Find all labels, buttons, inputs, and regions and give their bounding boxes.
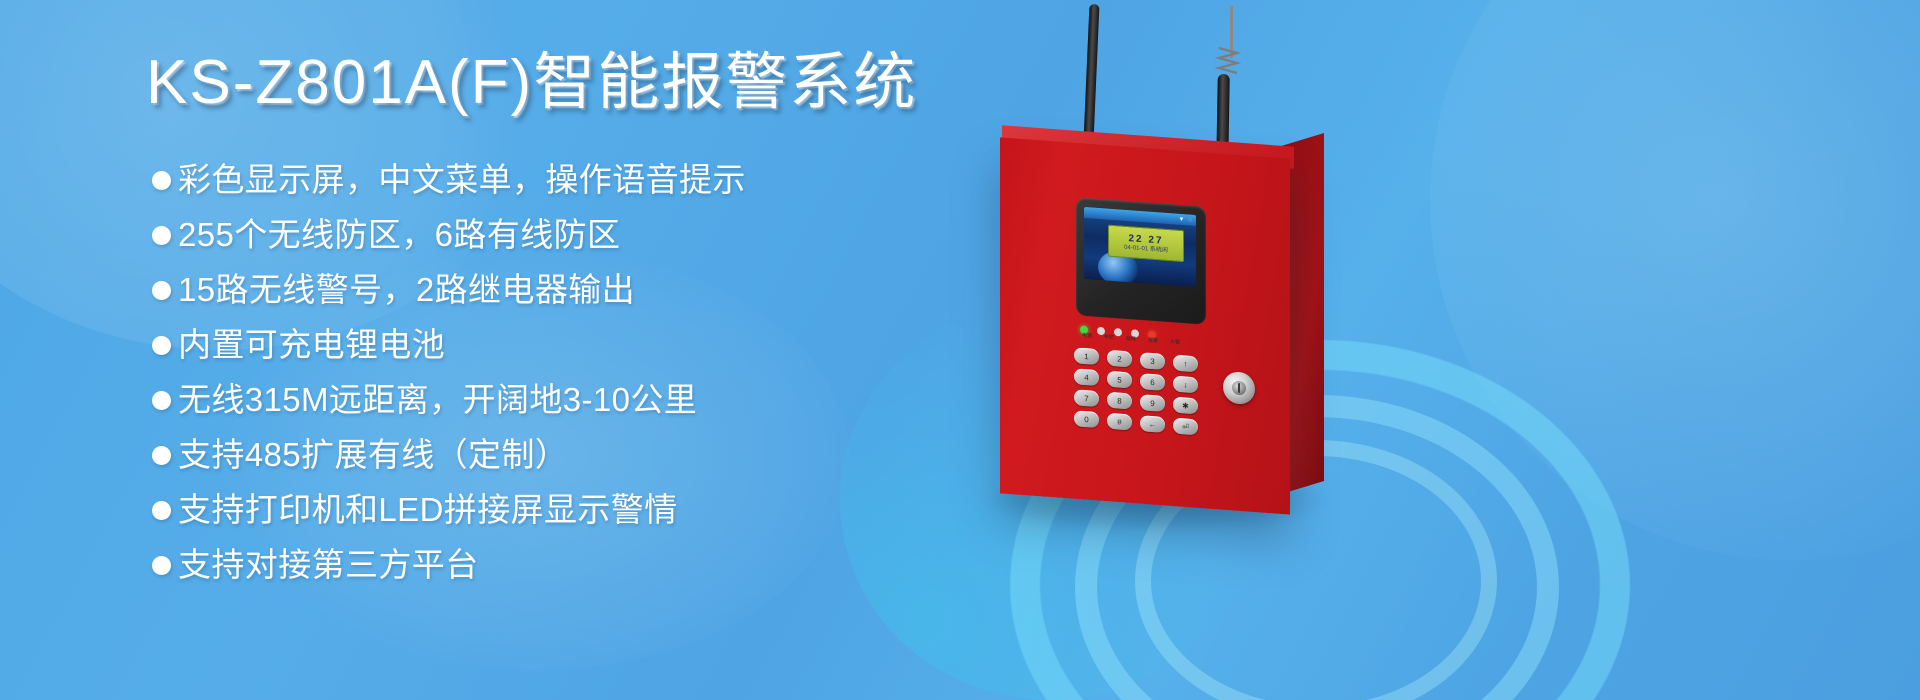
list-item: 支持对接第三方平台: [152, 541, 972, 589]
key-1[interactable]: 1: [1074, 347, 1099, 365]
key-5[interactable]: 5: [1107, 371, 1132, 389]
key-down[interactable]: ↓: [1173, 376, 1198, 394]
key-4[interactable]: 4: [1074, 368, 1099, 386]
bullet-dot-icon: [152, 171, 171, 190]
display-bezel: ▼ ◌ 22 27 04-01-01 系统闲: [1076, 197, 1206, 325]
feature-text: 支持485扩展有线（定制）: [178, 431, 568, 479]
feature-list: 彩色显示屏，中文菜单，操作语音提示 255个无线防区，6路有线防区 15路无线警…: [152, 156, 972, 596]
lock-keyhole: [1238, 383, 1240, 393]
key-enter[interactable]: ⏎: [1173, 418, 1198, 436]
list-item: 内置可充电锂电池: [152, 321, 972, 369]
list-item: 15路无线警号，2路继电器输出: [152, 266, 972, 314]
background-glow-right: [1430, 0, 1920, 560]
key-8[interactable]: 8: [1107, 392, 1132, 410]
key-3[interactable]: 3: [1140, 352, 1165, 370]
feature-text: 支持打印机和LED拼接屏显示警情: [178, 486, 678, 534]
key-6[interactable]: 6: [1140, 373, 1165, 391]
feature-text: 彩色显示屏，中文菜单，操作语音提示: [178, 156, 746, 204]
key-star[interactable]: ✱: [1173, 397, 1198, 415]
product-image-alarm-panel: ▼ ◌ 22 27 04-01-01 系统闲 电源 布防 故障 报警 火警: [940, 0, 1500, 700]
led-fire-label: 火警: [1166, 338, 1184, 346]
keypad[interactable]: 1 2 3 ↑ 4 5 6 ↓ 7 8 9 ✱ 0 # ← ⏎: [1074, 347, 1202, 435]
network-icon: ◌: [1188, 217, 1192, 223]
feature-text: 255个无线防区，6路有线防区: [178, 211, 620, 259]
feature-text: 无线315M远距离，开阔地3-10公里: [178, 376, 697, 424]
led-power-label: 电源: [1078, 331, 1096, 339]
bullet-dot-icon: [152, 556, 171, 575]
led-alarm-label: 报警: [1144, 336, 1162, 344]
list-item: 无线315M远距离，开阔地3-10公里: [152, 376, 972, 424]
key-back[interactable]: ←: [1140, 415, 1165, 433]
bullet-dot-icon: [152, 391, 171, 410]
key-2[interactable]: 2: [1107, 350, 1132, 368]
list-item: 支持打印机和LED拼接屏显示警情: [152, 486, 972, 534]
bullet-dot-icon: [152, 501, 171, 520]
bullet-dot-icon: [152, 446, 171, 465]
key-up[interactable]: ↑: [1173, 355, 1198, 373]
product-banner: KS-Z801A(F)智能报警系统 彩色显示屏，中文菜单，操作语音提示 255个…: [0, 0, 1920, 700]
list-item: 255个无线防区，6路有线防区: [152, 211, 972, 259]
antenna-right-coil-icon: [1215, 44, 1241, 78]
feature-text: 支持对接第三方平台: [178, 541, 479, 589]
list-item: 支持485扩展有线（定制）: [152, 431, 972, 479]
list-item: 彩色显示屏，中文菜单，操作语音提示: [152, 156, 972, 204]
bullet-dot-icon: [152, 226, 171, 245]
led-fault-label: 故障: [1122, 335, 1140, 343]
page-title: KS-Z801A(F)智能报警系统: [146, 52, 917, 114]
lcd-status-bar: ▼ ◌: [1084, 207, 1196, 226]
signal-icon: ▼: [1178, 216, 1184, 222]
key-7[interactable]: 7: [1074, 389, 1099, 407]
key-0[interactable]: 0: [1074, 410, 1099, 428]
bullet-dot-icon: [152, 336, 171, 355]
feature-text: 15路无线警号，2路继电器输出: [178, 266, 635, 314]
key-hash[interactable]: #: [1107, 413, 1132, 431]
led-armed-label: 布防: [1100, 333, 1118, 341]
feature-text: 内置可充电锂电池: [178, 321, 445, 369]
lcd-info-box: 22 27 04-01-01 系统闲: [1108, 225, 1184, 263]
key-9[interactable]: 9: [1140, 394, 1165, 412]
lcd-screen[interactable]: ▼ ◌ 22 27 04-01-01 系统闲: [1084, 207, 1196, 287]
bullet-dot-icon: [152, 281, 171, 300]
